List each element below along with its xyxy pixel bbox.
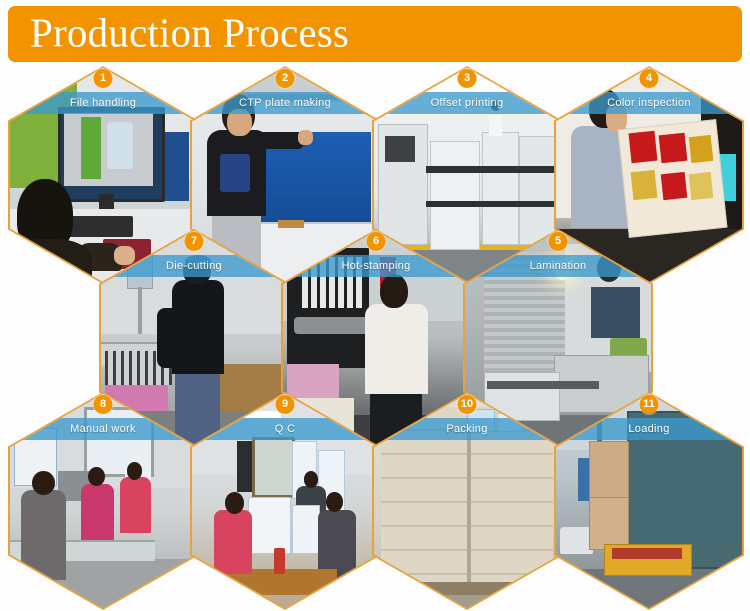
step-caption: Color inspection bbox=[556, 92, 742, 114]
step-number-badge: 10 bbox=[458, 395, 477, 414]
process-hexagon-grid: File handling 1 CTP plate making 2 bbox=[0, 62, 750, 611]
step-caption: CTP plate making bbox=[192, 92, 378, 114]
step-number-badge: 9 bbox=[276, 395, 295, 414]
step-number-badge: 2 bbox=[276, 69, 295, 88]
step-number-badge: 1 bbox=[94, 69, 113, 88]
step-number-badge: 5 bbox=[549, 232, 568, 251]
step-number-badge: 3 bbox=[458, 69, 477, 88]
page-title: Production Process bbox=[30, 13, 349, 54]
header-banner: Production Process bbox=[8, 6, 742, 62]
step-caption: Offset printing bbox=[374, 92, 560, 114]
step-number-badge: 4 bbox=[640, 69, 659, 88]
step-number-badge: 11 bbox=[640, 395, 659, 414]
step-number-badge: 6 bbox=[367, 232, 386, 251]
step-number-badge: 7 bbox=[185, 232, 204, 251]
step-number-badge: 8 bbox=[94, 395, 113, 414]
step-caption: File handling bbox=[10, 92, 196, 114]
